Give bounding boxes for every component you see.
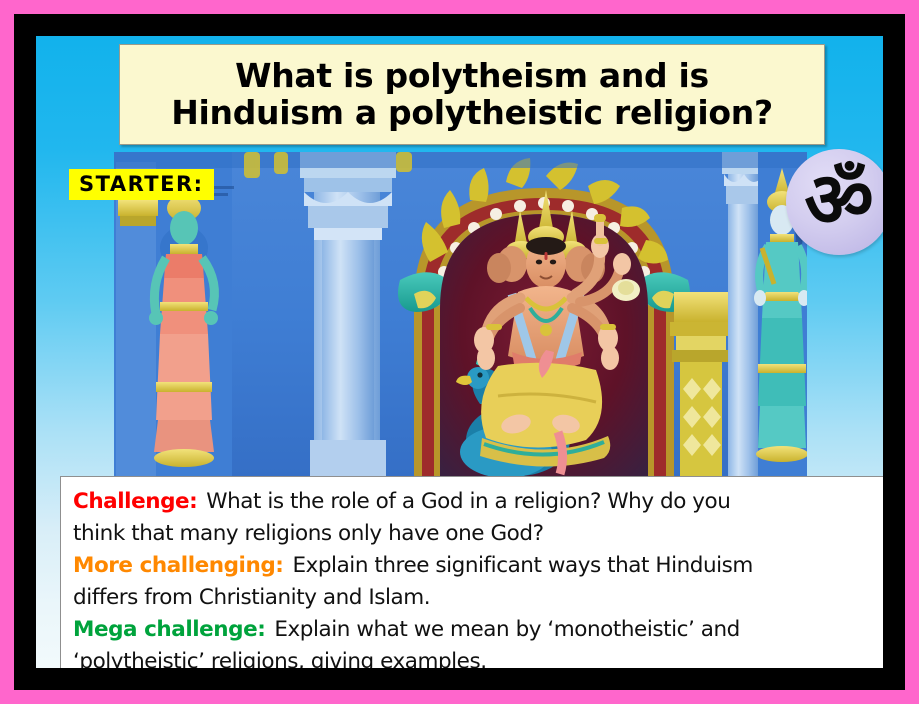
challenge-text-line-2: think that many religions only have one …	[73, 521, 544, 546]
task-row: differs from Christianity and Islam.	[73, 582, 880, 614]
mega-challenge-text-line-1: Explain what we mean by ‘monotheistic’ a…	[274, 617, 739, 642]
mega-challenge-label: Mega challenge:	[73, 617, 265, 642]
task-row: More challenging:Explain three significa…	[73, 550, 880, 582]
title-line-2: Hinduism a polytheistic religion?	[171, 95, 773, 132]
more-challenging-label: More challenging:	[73, 553, 283, 578]
starter-label: STARTER:	[69, 169, 214, 200]
om-icon: ॐ	[804, 162, 873, 238]
challenge-label: Challenge:	[73, 489, 197, 514]
slide-canvas: What is polytheism and is Hinduism a pol…	[36, 36, 883, 668]
more-challenging-text-line-1: Explain three significant ways that Hind…	[292, 553, 752, 578]
task-row: think that many religions only have one …	[73, 518, 880, 550]
slide: What is polytheism and is Hinduism a pol…	[0, 0, 919, 704]
page-title: What is polytheism and is Hinduism a pol…	[161, 58, 783, 132]
temple-sculpture-photo	[114, 152, 807, 477]
black-frame: What is polytheism and is Hinduism a pol…	[14, 14, 905, 690]
slide-title-box: What is polytheism and is Hinduism a pol…	[119, 44, 825, 145]
temple-sculpture-illustration	[114, 152, 807, 477]
title-line-1: What is polytheism and is	[171, 58, 773, 95]
om-badge: ॐ	[786, 149, 883, 255]
task-row: ‘polytheistic’ religions, giving example…	[73, 646, 880, 668]
more-challenging-text-line-2: differs from Christianity and Islam.	[73, 585, 430, 610]
mega-challenge-text-line-2: ‘polytheistic’ religions, giving example…	[73, 649, 487, 668]
task-instructions-box: Challenge:What is the role of a God in a…	[60, 476, 883, 668]
challenge-text-line-1: What is the role of a God in a religion?…	[206, 489, 730, 514]
task-row: Challenge:What is the role of a God in a…	[73, 486, 880, 518]
task-row: Mega challenge:Explain what we mean by ‘…	[73, 614, 880, 646]
